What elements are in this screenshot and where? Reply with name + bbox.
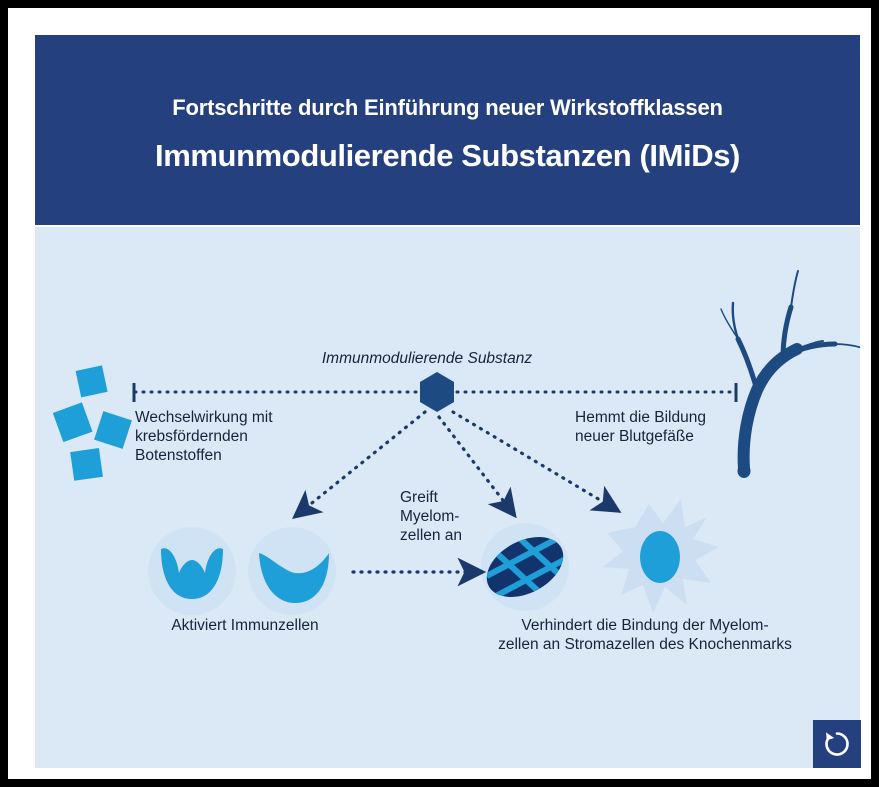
central-hexagon-node[interactable] (420, 372, 454, 412)
label-myeloma-attack: Greift Myelom- zellen an (400, 488, 462, 545)
header-subtitle: Fortschritte durch Einführung neuer Wirk… (35, 95, 860, 121)
reset-button[interactable] (813, 720, 861, 768)
diagram-panel: Immunmodulierende Substanz Wechselwirkun… (35, 227, 860, 768)
label-immune-activation: Aktiviert Immunzellen (135, 616, 355, 635)
center-node-label: Immunmodulierende Substanz (307, 349, 547, 368)
stromal-cell-icon (603, 499, 719, 613)
label-angiogenesis-inhibition: Hemmt die Bildung neuer Blutgefäße (575, 408, 706, 446)
reset-arrow-icon (822, 729, 852, 759)
label-cytokine-interaction: Wechselwirkung mit krebsfördernden Boten… (135, 408, 273, 465)
immune-cells-icon (148, 527, 336, 615)
infographic-card: Fortschritte durch Einführung neuer Wirk… (8, 8, 871, 779)
header-banner: Fortschritte durch Einführung neuer Wirk… (35, 35, 860, 225)
blood-vessel-icon (721, 271, 860, 478)
label-stroma-binding: Verhindert die Bindung der Myelom- zelle… (475, 616, 815, 654)
cytokine-squares-icon (53, 365, 132, 480)
myeloma-cell-icon (475, 521, 577, 615)
page-title: Immunmodulierende Substanzen (IMiDs) (35, 138, 860, 174)
image-frame: Fortschritte durch Einführung neuer Wirk… (0, 0, 879, 787)
